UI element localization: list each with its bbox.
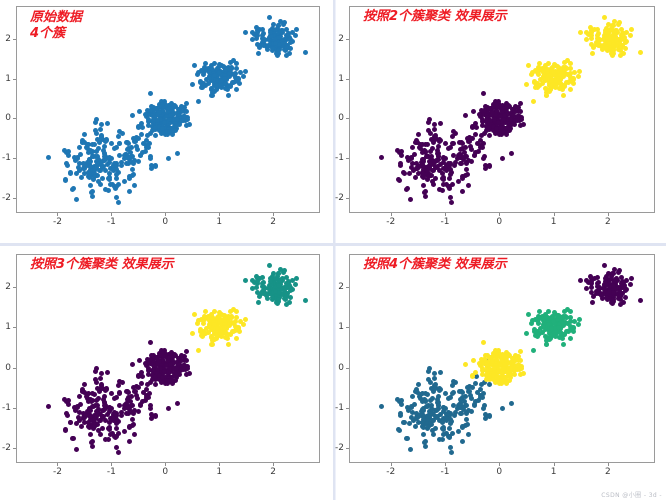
scatter-point xyxy=(111,167,116,172)
y-tick-mark xyxy=(346,408,349,409)
scatter-point xyxy=(448,421,453,426)
scatter-point xyxy=(436,403,441,408)
x-tick-label: -2 xyxy=(53,467,62,477)
scatter-point xyxy=(467,139,472,144)
scatter-point xyxy=(550,65,555,70)
scatter-point xyxy=(166,406,171,411)
scatter-point xyxy=(609,300,614,305)
scatter-point xyxy=(231,307,236,312)
scatter-point xyxy=(436,154,441,159)
scatter-point xyxy=(413,424,418,429)
y-tick-mark xyxy=(346,368,349,369)
subplot-original[interactable]: 原始数据 4个簇 -2-1012-2-1012 xyxy=(0,0,333,243)
scatter-point xyxy=(196,348,201,353)
scatter-point xyxy=(544,342,549,347)
scatter-point xyxy=(609,51,614,56)
scatter-point xyxy=(122,179,127,184)
scatter-point xyxy=(127,174,132,179)
scatter-point xyxy=(137,358,142,363)
scatter-point xyxy=(638,50,643,55)
scatter-point xyxy=(217,319,222,324)
scatter-point xyxy=(576,322,581,327)
scatter-point xyxy=(119,163,124,168)
scatter-point xyxy=(99,371,104,376)
y-tick-mark xyxy=(13,327,16,328)
x-tick-mark xyxy=(391,463,392,466)
scatter-point xyxy=(508,123,513,128)
scatter-point xyxy=(77,161,82,166)
scatter-point xyxy=(531,99,536,104)
scatter-point xyxy=(504,381,509,386)
scatter-point xyxy=(99,133,104,138)
scatter-point xyxy=(481,156,486,161)
scatter-point xyxy=(144,393,149,398)
scatter-point xyxy=(103,388,108,393)
subplot-k3[interactable]: 按照3个簇聚类 效果展示 -2-1012-2-1012 xyxy=(0,246,333,500)
y-tick-mark xyxy=(346,158,349,159)
scatter-point xyxy=(466,432,471,437)
scatter-point xyxy=(421,183,426,188)
scatter-point xyxy=(541,76,546,81)
scatter-point xyxy=(46,404,51,409)
scatter-point xyxy=(578,30,583,35)
scatter-point xyxy=(234,336,239,341)
y-tick-label: 2 xyxy=(0,282,11,292)
scatter-point xyxy=(496,120,501,125)
scatter-point xyxy=(438,121,443,126)
scatter-point xyxy=(629,276,634,281)
scatter-point xyxy=(303,298,308,303)
scatter-point xyxy=(471,109,476,114)
scatter-point xyxy=(423,444,428,449)
scatter-point xyxy=(294,27,299,32)
scatter-point xyxy=(133,389,138,394)
y-tick-label: 0 xyxy=(0,363,11,373)
scatter-point xyxy=(102,403,107,408)
scatter-point xyxy=(513,353,518,358)
scatter-point xyxy=(130,362,135,367)
x-tick-label: 2 xyxy=(270,467,276,477)
scatter-point xyxy=(422,148,427,153)
x-tick-mark xyxy=(165,463,166,466)
scatter-point xyxy=(561,342,566,347)
scatter-point xyxy=(429,386,434,391)
scatter-point xyxy=(602,263,607,268)
scatter-point xyxy=(105,370,110,375)
x-tick-mark xyxy=(499,213,500,216)
scatter-point xyxy=(170,132,175,137)
scatter-point xyxy=(114,172,119,177)
scatter-point xyxy=(174,117,179,122)
scatter-point xyxy=(402,171,407,176)
scatter-point xyxy=(227,320,232,325)
scatter-point xyxy=(546,322,551,327)
scatter-point xyxy=(544,93,549,98)
y-tick-mark xyxy=(13,198,16,199)
scatter-point xyxy=(148,91,153,96)
subplot-k2[interactable]: 按照2个簇聚类 效果展示 -2-1012-2-1012 xyxy=(336,0,666,243)
scatter-point xyxy=(426,424,431,429)
scatter-point xyxy=(74,197,79,202)
scatter-point xyxy=(418,392,423,397)
scatter-point xyxy=(135,147,140,152)
scatter-point xyxy=(441,160,446,165)
scatter-point xyxy=(288,46,293,51)
x-tick-label: -1 xyxy=(107,217,116,227)
x-tick-mark xyxy=(391,213,392,216)
scatter-point xyxy=(85,142,90,147)
y-tick-mark xyxy=(13,158,16,159)
scatter-point xyxy=(241,322,246,327)
scatter-point xyxy=(463,113,468,118)
scatter-point xyxy=(568,87,573,92)
scatter-point xyxy=(611,35,616,40)
scatter-point xyxy=(257,45,262,50)
scatter-point xyxy=(591,294,596,299)
scatter-point xyxy=(174,123,179,128)
scatter-point xyxy=(448,395,453,400)
scatter-point xyxy=(209,93,214,98)
scatter-point xyxy=(513,104,518,109)
scatter-point xyxy=(101,414,106,419)
scatter-point xyxy=(216,314,221,319)
scatter-point xyxy=(293,33,298,38)
scatter-point xyxy=(449,200,454,205)
scatter-point xyxy=(128,150,133,155)
scatter-point xyxy=(273,41,278,46)
scatter-point xyxy=(148,156,153,161)
scatter-point xyxy=(230,329,235,334)
scatter-point xyxy=(90,189,95,194)
scatter-point xyxy=(399,153,404,158)
scatter-point xyxy=(590,300,595,305)
x-tick-label: -1 xyxy=(107,467,116,477)
scatter-point xyxy=(243,69,248,74)
scatter-point xyxy=(452,163,457,168)
scatter-point xyxy=(617,20,622,25)
x-tick-label: 0 xyxy=(496,217,502,227)
scatter-point xyxy=(500,406,505,411)
scatter-point xyxy=(267,263,272,268)
plot-area-k3[interactable] xyxy=(16,254,320,463)
scatter-point xyxy=(93,154,98,159)
scatter-point xyxy=(139,121,144,126)
scatter-point xyxy=(448,172,453,177)
x-tick-mark xyxy=(111,463,112,466)
y-tick-label: 2 xyxy=(331,34,344,44)
scatter-point xyxy=(283,297,288,302)
scatter-point xyxy=(404,187,409,192)
scatter-point xyxy=(146,366,151,371)
scatter-point xyxy=(521,371,526,376)
scatter-point xyxy=(175,151,180,156)
scatter-point xyxy=(81,416,86,421)
scatter-point xyxy=(487,133,492,138)
scatter-point xyxy=(600,47,605,52)
scatter-point xyxy=(437,437,442,442)
scatter-point xyxy=(623,46,628,51)
scatter-point xyxy=(398,411,403,416)
scatter-point xyxy=(518,109,523,114)
scatter-point xyxy=(467,389,472,394)
scatter-point xyxy=(420,420,425,425)
scatter-point xyxy=(463,362,468,367)
scatter-point xyxy=(276,35,281,40)
scatter-point xyxy=(132,183,137,188)
scatter-point xyxy=(203,309,208,314)
scatter-point xyxy=(481,340,486,345)
scatter-point xyxy=(607,41,612,46)
scatter-point xyxy=(187,371,192,376)
plot-area-original[interactable] xyxy=(16,6,320,213)
x-tick-label: -2 xyxy=(53,217,62,227)
scatter-point xyxy=(209,342,214,347)
scatter-point xyxy=(466,183,471,188)
scatter-point xyxy=(487,382,492,387)
scatter-point xyxy=(114,421,119,426)
scatter-point xyxy=(526,63,531,68)
scatter-point xyxy=(408,197,413,202)
scatter-point xyxy=(426,174,431,179)
x-tick-mark xyxy=(273,463,274,466)
scatter-point xyxy=(409,404,414,409)
plot-area-k4[interactable] xyxy=(349,254,655,463)
scatter-point xyxy=(116,450,121,455)
scatter-point xyxy=(453,131,458,136)
scatter-point xyxy=(127,439,132,444)
scatter-point xyxy=(449,450,454,455)
scatter-point xyxy=(77,394,82,399)
scatter-point xyxy=(379,155,384,160)
y-tick-mark xyxy=(346,118,349,119)
scatter-point xyxy=(267,15,272,20)
x-tick-label: 1 xyxy=(216,217,222,227)
y-tick-mark xyxy=(13,287,16,288)
subplot-k4[interactable]: 按照4个簇聚类 效果展示 -2-1012-2-1012 xyxy=(336,246,666,500)
scatter-point xyxy=(149,166,154,171)
x-tick-mark xyxy=(273,213,274,216)
scatter-point xyxy=(595,36,600,41)
scatter-point xyxy=(379,404,384,409)
scatter-point xyxy=(611,283,616,288)
scatter-point xyxy=(119,413,124,418)
scatter-point xyxy=(190,331,195,336)
figure-canvas: 原始数据 4个簇 -2-1012-2-1012 按照2个簇聚类 效果展示 -2-… xyxy=(0,0,666,500)
scatter-point xyxy=(453,380,458,385)
scatter-point xyxy=(500,156,505,161)
scatter-point xyxy=(456,429,461,434)
scatter-point xyxy=(623,295,628,300)
scatter-point xyxy=(108,432,113,437)
scatter-point xyxy=(68,171,73,176)
scatter-point xyxy=(568,336,573,341)
scatter-point xyxy=(430,146,435,151)
scatter-point xyxy=(100,426,105,431)
plot-area-k2[interactable] xyxy=(349,6,655,213)
scatter-point xyxy=(92,424,97,429)
scatter-point xyxy=(422,397,427,402)
scatter-point xyxy=(481,91,486,96)
scatter-point xyxy=(190,82,195,87)
scatter-point xyxy=(127,424,132,429)
x-tick-label: -1 xyxy=(441,217,450,227)
scatter-point xyxy=(433,176,438,181)
scatter-point xyxy=(77,145,82,150)
scatter-point xyxy=(531,348,536,353)
x-tick-mark xyxy=(554,463,555,466)
scatter-point xyxy=(464,417,469,422)
scatter-point xyxy=(508,366,513,371)
scatter-point xyxy=(278,19,283,24)
scatter-point xyxy=(62,148,67,153)
scatter-point xyxy=(443,391,448,396)
scatter-point xyxy=(456,179,461,184)
y-tick-mark xyxy=(346,198,349,199)
scatter-point xyxy=(207,76,212,81)
scatter-point xyxy=(223,335,228,340)
scatter-point xyxy=(155,118,160,123)
scatter-point xyxy=(420,170,425,175)
scatter-point xyxy=(148,357,153,362)
x-tick-label: -1 xyxy=(441,467,450,477)
y-tick-label: -2 xyxy=(331,443,344,453)
scatter-point xyxy=(451,403,456,408)
scatter-point xyxy=(135,396,140,401)
scatter-point xyxy=(483,166,488,171)
scatter-point xyxy=(433,426,438,431)
scatter-point xyxy=(448,145,453,150)
scatter-point xyxy=(243,30,248,35)
scatter-point xyxy=(533,85,538,90)
y-tick-mark xyxy=(13,39,16,40)
scatter-point xyxy=(181,114,186,119)
scatter-point xyxy=(93,120,98,125)
x-tick-mark xyxy=(219,463,220,466)
scatter-point xyxy=(398,161,403,166)
scatter-point xyxy=(628,33,633,38)
scatter-point xyxy=(524,331,529,336)
y-tick-mark xyxy=(346,79,349,80)
scatter-point xyxy=(174,372,179,377)
y-tick-label: -2 xyxy=(0,443,11,453)
scatter-point xyxy=(303,50,308,55)
x-tick-mark xyxy=(57,463,58,466)
scatter-point xyxy=(482,108,487,113)
scatter-point xyxy=(114,426,119,431)
scatter-point xyxy=(428,411,433,416)
scatter-point xyxy=(397,178,402,183)
scatter-point xyxy=(120,380,125,385)
scatter-point xyxy=(504,132,509,137)
scatter-point xyxy=(148,406,153,411)
scatter-point xyxy=(99,382,104,387)
scatter-point xyxy=(127,405,132,410)
scatter-point xyxy=(478,143,483,148)
scatter-point xyxy=(410,145,415,150)
scatter-point xyxy=(46,155,51,160)
scatter-point xyxy=(144,143,149,148)
scatter-point xyxy=(460,189,465,194)
scatter-point xyxy=(120,131,125,136)
scatter-point xyxy=(74,171,79,176)
scatter-point xyxy=(584,37,589,42)
x-tick-mark xyxy=(608,463,609,466)
scatter-point xyxy=(227,71,232,76)
x-tick-label: -2 xyxy=(386,217,395,227)
x-tick-mark xyxy=(165,213,166,216)
scatter-point xyxy=(617,41,622,46)
scatter-point xyxy=(432,127,437,132)
scatter-point xyxy=(278,267,283,272)
scatter-point xyxy=(578,278,583,283)
y-tick-mark xyxy=(346,327,349,328)
scatter-point xyxy=(130,113,135,118)
scatter-point xyxy=(620,33,625,38)
scatter-point xyxy=(600,296,605,301)
scatter-point xyxy=(437,388,442,393)
x-tick-mark xyxy=(554,213,555,216)
scatter-point xyxy=(416,132,421,137)
x-tick-mark xyxy=(608,213,609,216)
y-tick-mark xyxy=(13,368,16,369)
x-tick-mark xyxy=(445,463,446,466)
scatter-point xyxy=(557,335,562,340)
scatter-point xyxy=(162,120,167,125)
scatter-point xyxy=(226,342,231,347)
scatter-point xyxy=(221,313,226,318)
scatter-point xyxy=(98,127,103,132)
scatter-point xyxy=(397,428,402,433)
scatter-point xyxy=(524,82,529,87)
scatter-point xyxy=(179,104,184,109)
scatter-point xyxy=(629,27,634,32)
x-tick-mark xyxy=(111,213,112,216)
x-tick-mark xyxy=(57,213,58,216)
scatter-point xyxy=(90,439,95,444)
scatter-point xyxy=(591,45,596,50)
scatter-point xyxy=(102,154,107,159)
scatter-point xyxy=(153,133,158,138)
scatter-point xyxy=(174,366,179,371)
scatter-point xyxy=(257,294,262,299)
scatter-point xyxy=(595,284,600,289)
scatter-point xyxy=(114,145,119,150)
scatter-point xyxy=(63,428,68,433)
scatter-point xyxy=(423,194,428,199)
scatter-point xyxy=(441,409,446,414)
scatter-point xyxy=(274,300,279,305)
scatter-point xyxy=(282,20,287,25)
scatter-point xyxy=(234,315,239,320)
scatter-point xyxy=(460,439,465,444)
scatter-point xyxy=(461,155,466,160)
scatter-point xyxy=(557,86,562,91)
scatter-point xyxy=(432,376,437,381)
scatter-point xyxy=(276,283,281,288)
scatter-point xyxy=(137,109,142,114)
scatter-point xyxy=(66,153,71,158)
scatter-point xyxy=(452,413,457,418)
x-tick-mark xyxy=(445,213,446,216)
scatter-point xyxy=(250,278,255,283)
scatter-point xyxy=(216,65,221,70)
scatter-point xyxy=(550,314,555,319)
scatter-point xyxy=(70,187,75,192)
scatter-point xyxy=(568,324,573,329)
scatter-point xyxy=(469,147,474,152)
scatter-point xyxy=(294,276,299,281)
scatter-point xyxy=(243,278,248,283)
